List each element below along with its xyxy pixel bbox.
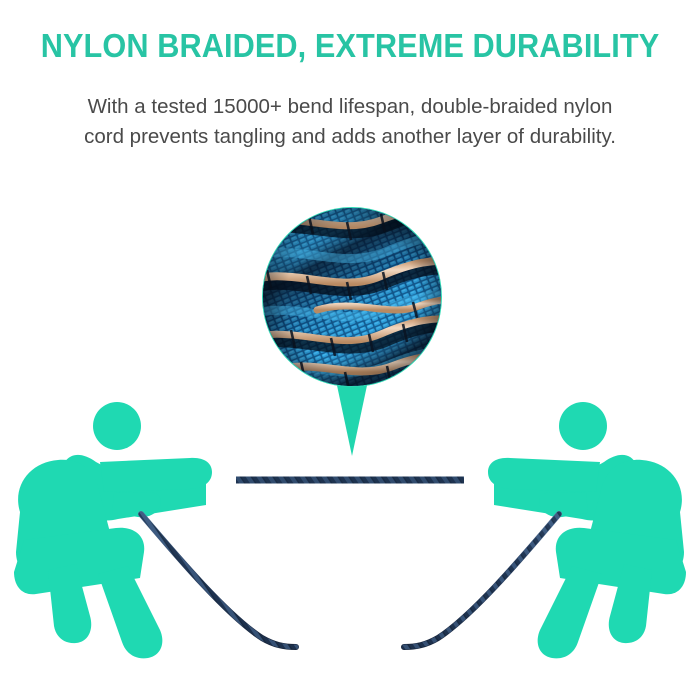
magnifier-callout — [261, 206, 443, 456]
right-figure-arm — [488, 458, 600, 492]
magnifier-pointer — [335, 376, 369, 456]
left-hand-curved-cord — [141, 514, 296, 647]
right-figure-head — [559, 402, 607, 450]
right-figure-front-leg — [538, 566, 602, 658]
right-cord-texture — [404, 514, 559, 647]
left-cord-texture — [141, 514, 296, 647]
promo-banner: NYLON BRAIDED, EXTREME DURABILITY With a… — [0, 0, 700, 700]
left-figure-arm — [100, 458, 212, 492]
left-figure-head — [93, 402, 141, 450]
right-hand-curved-cord — [404, 514, 559, 647]
tug-of-war-person-right — [488, 402, 686, 658]
left-figure-front-leg — [98, 566, 162, 658]
left-figure-hand — [112, 492, 161, 517]
right-figure-hand — [539, 492, 588, 517]
tug-of-war-person-left — [14, 402, 212, 658]
